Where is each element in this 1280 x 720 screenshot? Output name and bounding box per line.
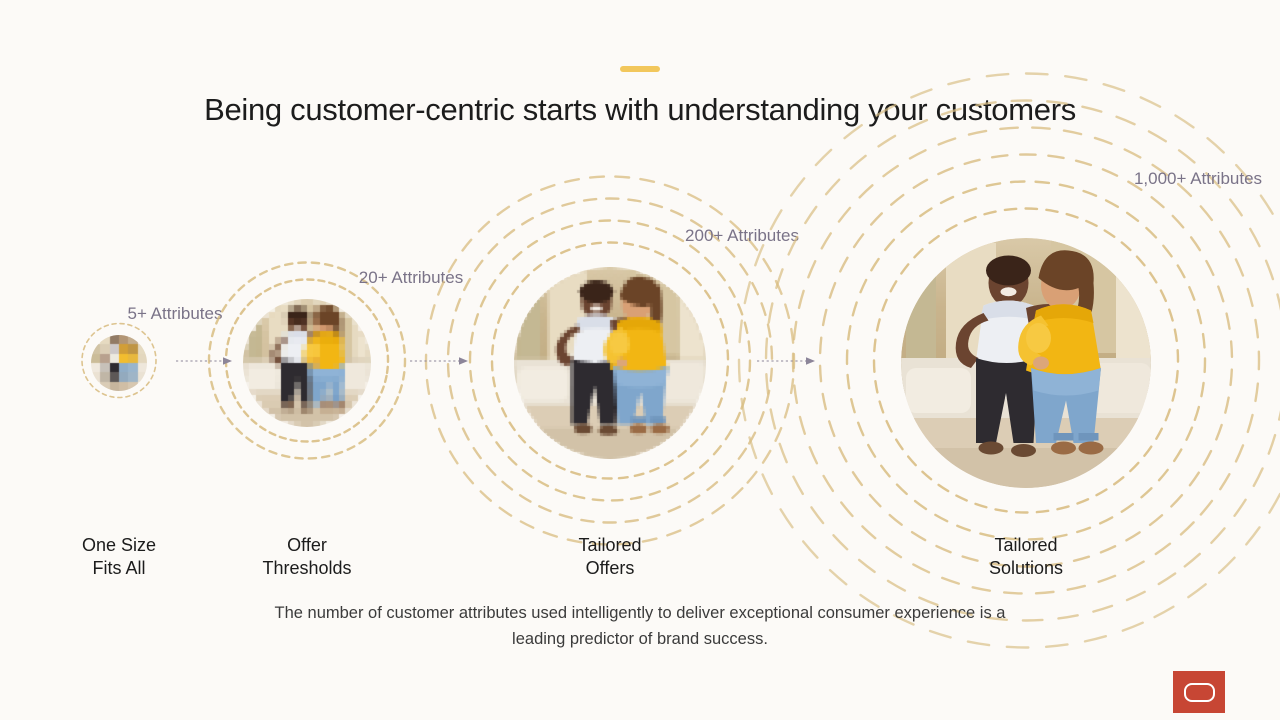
progress-arrow-2-3: [410, 354, 468, 372]
stage-label-line-2: Thresholds: [262, 557, 351, 580]
oracle-oval-icon: [1184, 683, 1215, 702]
stage-photo-canvas: [91, 335, 147, 391]
stage-photo-tailored-offers: [514, 267, 706, 459]
stage-label-tailored-solutions: TailoredSolutions: [989, 534, 1063, 580]
stage-photo-offer-thresholds: [243, 299, 371, 427]
stage-label-line-1: Tailored: [989, 534, 1063, 557]
oracle-logo: [1173, 671, 1225, 713]
stage-group-offer-thresholds: [202, 258, 412, 468]
stage-label-line-1: Tailored: [578, 534, 641, 557]
caption-line-1: The number of customer attributes used i…: [275, 604, 890, 622]
progress-arrow-1-2: [176, 354, 232, 372]
slide-root: Being customer-centric starts with under…: [0, 0, 1280, 720]
stage-photo-canvas: [514, 267, 706, 459]
stage-group-one-size-fits-all: [75, 319, 163, 407]
stage-label-offer-thresholds: OfferThresholds: [262, 534, 351, 580]
progress-arrow-3-4: [757, 354, 815, 372]
caption: The number of customer attributes used i…: [270, 600, 1010, 652]
attributes-label-tailored-solutions: 1,000+ Attributes: [1134, 169, 1262, 189]
stage-label-line-1: Offer: [262, 534, 351, 557]
stage-label-line-2: Offers: [578, 557, 641, 580]
stage-label-line-2: Solutions: [989, 557, 1063, 580]
stage-label-one-size-fits-all: One SizeFits All: [82, 534, 156, 580]
stage-label-line-2: Fits All: [82, 557, 156, 580]
stage-label-tailored-offers: TailoredOffers: [578, 534, 641, 580]
stage-photo-one-size-fits-all: [91, 335, 147, 391]
stage-photo-canvas: [243, 299, 371, 427]
stage-photo-tailored-solutions: [901, 238, 1151, 488]
stage-label-line-1: One Size: [82, 534, 156, 557]
